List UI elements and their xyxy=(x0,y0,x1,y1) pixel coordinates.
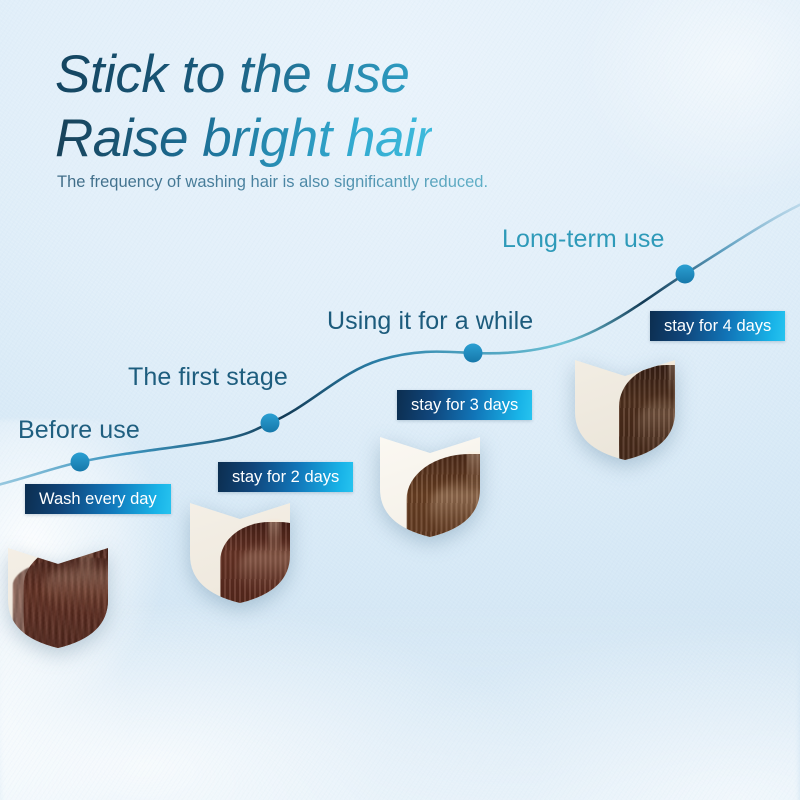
photo-hair-gloss xyxy=(44,561,128,615)
photo-dark-silky-hair xyxy=(575,360,775,596)
stage-title-long-term-use: Long-term use xyxy=(502,225,665,254)
badge-stay-for-2-days: stay for 2 days xyxy=(218,462,353,492)
shield-photo-before-use xyxy=(8,548,164,708)
photo-hair-mass xyxy=(619,365,731,596)
badge-stay-for-3-days: stay for 3 days xyxy=(397,390,532,420)
photo-backdrop xyxy=(575,360,775,596)
curve-point-before-use xyxy=(71,453,90,472)
badge-stay-for-4-days: stay for 4 days xyxy=(650,311,785,341)
stage-title-using-a-while: Using it for a while xyxy=(327,307,533,336)
photo-wavy-frizzy-hair xyxy=(8,548,164,708)
stage-title-before-use: Before use xyxy=(18,416,140,445)
curve-point-first-stage xyxy=(261,414,280,433)
shield-photo-long-term-use xyxy=(575,360,775,596)
stage-title-first-stage: The first stage xyxy=(128,363,288,392)
photo-straight-auburn-hair xyxy=(190,503,358,695)
photo-bare-shoulder xyxy=(448,553,554,651)
curve-point-using-a-while xyxy=(464,344,483,363)
photo-bare-shoulders xyxy=(579,497,771,596)
curve-point-long-term-use xyxy=(676,265,695,284)
photo-glossy-brown-hair xyxy=(380,437,570,651)
photo-grey-sweater xyxy=(190,611,358,695)
photo-hand xyxy=(380,544,428,600)
badge-wash-every-day: Wash every day xyxy=(25,484,171,514)
shield-photo-using-a-while xyxy=(380,437,570,651)
shield-photo-first-stage xyxy=(190,503,358,695)
photo-hair-gloss xyxy=(429,476,520,544)
infographic-canvas: Stick to the use Raise bright hair The f… xyxy=(0,0,800,800)
photo-shoulders xyxy=(8,644,164,708)
photo-hair-gloss xyxy=(239,541,310,599)
photo-hair-gloss xyxy=(637,393,713,464)
